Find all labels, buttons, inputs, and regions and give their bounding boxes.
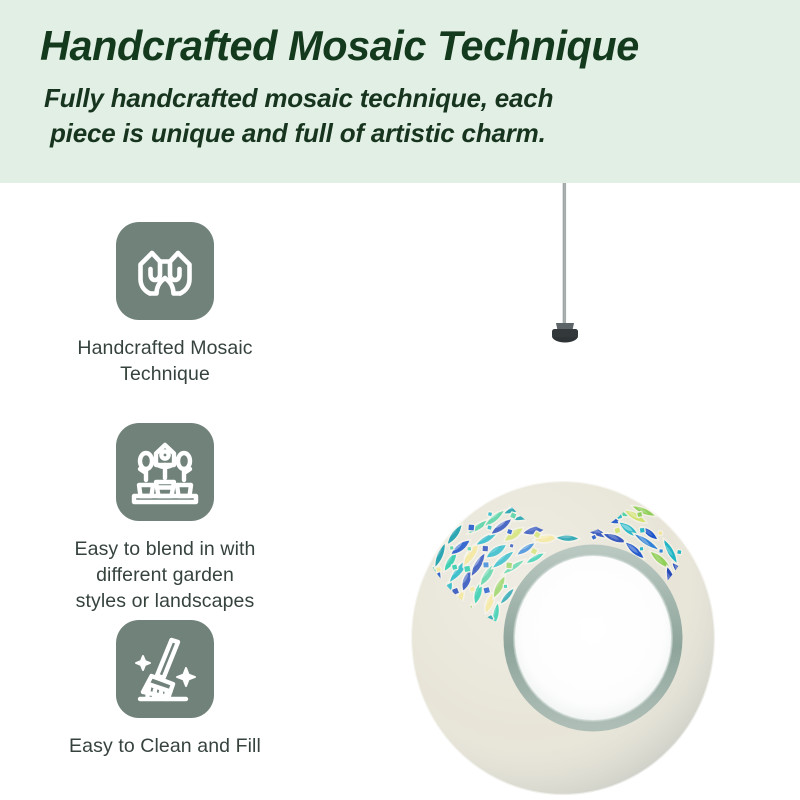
mosaic-ring-feeder-illustration: [330, 183, 800, 800]
feature-item-garden-blend: Easy to blend in with different garden s…: [0, 423, 330, 615]
mosaic-diamond-tile: [506, 562, 513, 569]
mosaic-diamond-tile: [637, 511, 643, 517]
feature-item-clean-fill: Easy to Clean and Fill: [0, 620, 330, 760]
mosaic-diamond-tile: [483, 586, 491, 594]
mosaic-diamond-tile: [506, 528, 513, 535]
subtitle-line-2: piece is unique and full of artistic cha…: [44, 116, 564, 151]
feature-label-handcrafted: Handcrafted Mosaic Technique: [60, 336, 270, 388]
mosaic-diamond-tile: [451, 564, 458, 571]
hanging-cable: [563, 183, 567, 327]
mosaic-diamond-tile: [659, 549, 664, 554]
feature-2-line-3: styles or landscapes: [76, 590, 255, 612]
handcrafted-hands-icon: [116, 222, 214, 320]
mosaic-diamond-tile: [509, 512, 517, 520]
feature-2-line-1: Easy to blend in with: [75, 538, 256, 560]
mosaic-diamond-tile: [677, 549, 683, 555]
mosaic-ring-body: [411, 481, 716, 795]
feature-item-handcrafted: Handcrafted Mosaic Technique: [0, 222, 330, 388]
mosaic-diamond-tile: [487, 511, 493, 517]
feature-list: Handcrafted Mosaic Technique: [0, 183, 330, 800]
mosaic-diamond-tile: [639, 527, 645, 533]
potted-plants-icon: [116, 423, 214, 521]
infographic-page: Handcrafted Mosaic Technique Fully handc…: [0, 0, 800, 800]
mosaic-diamond-tile: [509, 543, 514, 548]
mosaic-diamond-tile: [449, 545, 454, 550]
mosaic-diamond-tile: [482, 545, 489, 552]
mosaic-diamond-tile: [469, 586, 476, 593]
mosaic-diamond-tile: [487, 525, 493, 531]
header-subtitle: Fully handcrafted mosaic technique, each…: [44, 81, 564, 152]
mosaic-diamond-tile: [467, 546, 472, 551]
feature-1-line-2: Technique: [120, 363, 210, 385]
header-banner: Handcrafted Mosaic Technique Fully handc…: [0, 0, 800, 183]
feature-label-clean-fill: Easy to Clean and Fill: [0, 734, 330, 760]
mosaic-diamond-tile: [614, 527, 621, 534]
page-title: Handcrafted Mosaic Technique: [40, 22, 749, 69]
mosaic-diamond-tile: [639, 546, 644, 551]
mosaic-diamond-tile: [435, 566, 441, 572]
feature-label-garden-blend: Easy to blend in with different garden s…: [58, 537, 273, 615]
broom-sparkle-icon: [116, 620, 214, 718]
feature-3-line-1: Easy to Clean and Fill: [69, 735, 261, 757]
feature-2-line-2: different garden: [96, 564, 234, 586]
subtitle-line-1: Fully handcrafted mosaic technique, each: [44, 83, 553, 113]
feature-1-line-1: Handcrafted Mosaic: [77, 337, 252, 359]
product-image: [330, 183, 800, 800]
mosaic-diamond-tile: [463, 565, 471, 573]
mosaic-diamond-tile: [468, 524, 475, 531]
mosaic-diamond-tile: [503, 584, 508, 589]
mosaic-diamond-tile: [658, 531, 663, 536]
mosaic-diamond-tile: [483, 562, 489, 568]
